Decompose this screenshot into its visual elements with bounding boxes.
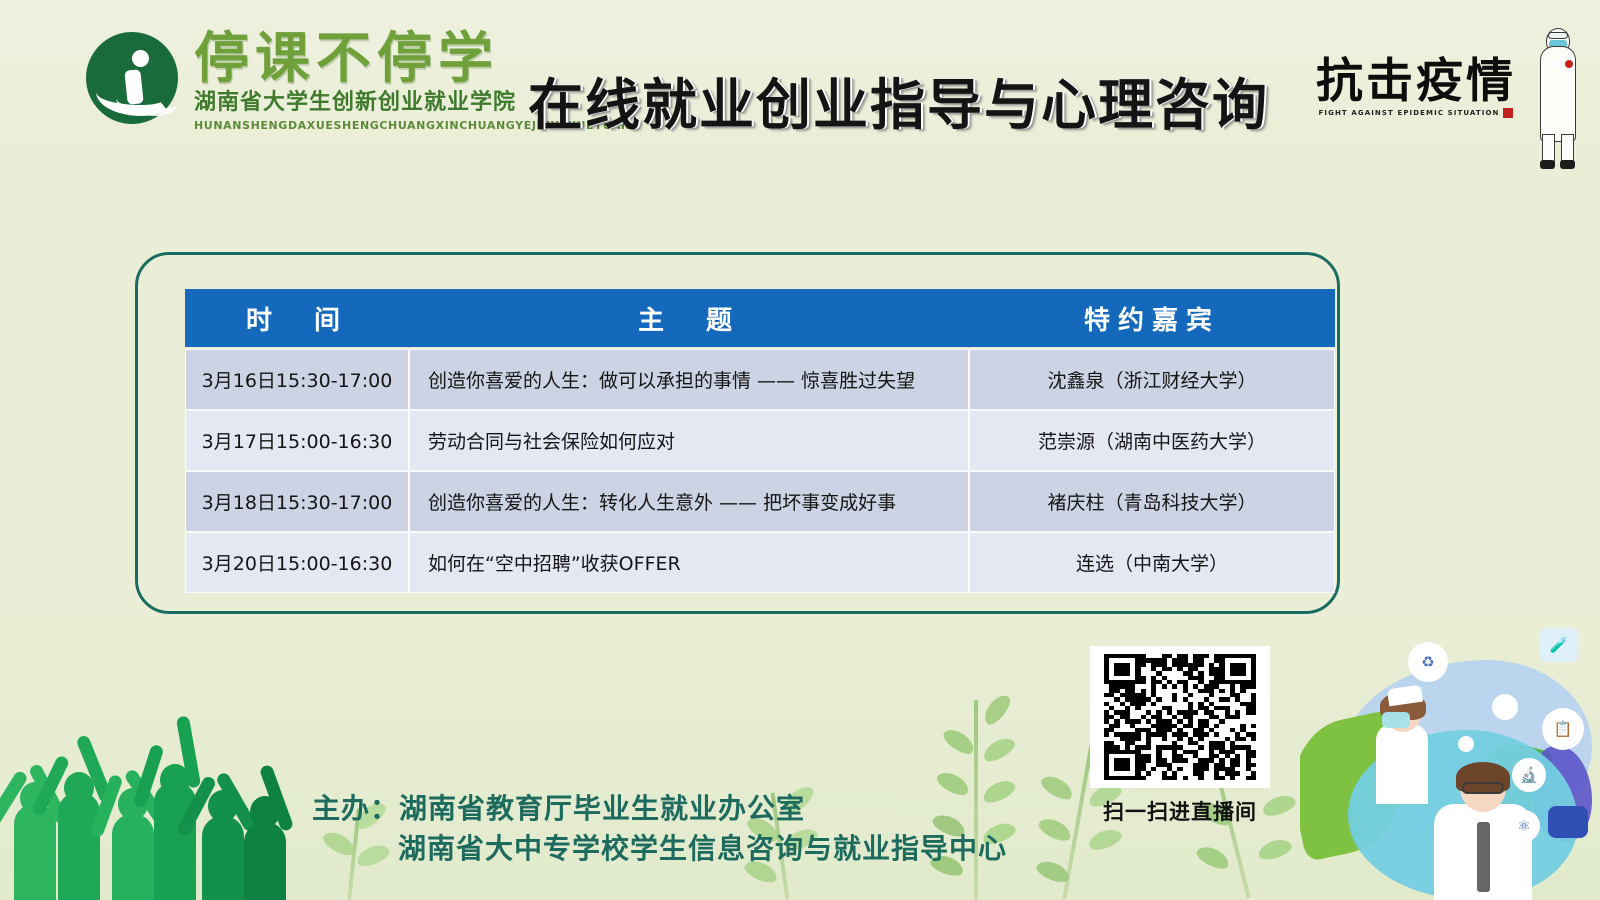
test-tubes-icon: 🧪: [1540, 628, 1578, 662]
cell-topic: 创造你喜爱的人生：做可以承担的事情 —— 惊喜胜过失望: [409, 349, 969, 410]
epidemic-badge-cn: 抗击疫情: [1316, 58, 1516, 105]
microscope-icon: 🔬: [1512, 758, 1546, 792]
cell-time: 3月20日15:00-16:30: [185, 532, 409, 593]
column-header-guest: 特约嘉宾: [969, 289, 1335, 347]
organizer-prefix: 主办：: [312, 792, 399, 825]
bubble-dot: [1458, 736, 1474, 752]
epidemic-badge: 抗击疫情 FIGHT AGAINST EPIDEMIC SITUATION: [1316, 58, 1516, 118]
clipboard-icon: 📋: [1542, 708, 1584, 750]
atom-icon: ⚛: [1508, 810, 1540, 842]
organizer-footer: 主办：湖南省教育厅毕业生就业办公室 湖南省大中专学校学生信息咨询与就业指导中心: [312, 789, 1007, 870]
organizer-line-2: 湖南省大中专学校学生信息咨询与就业指导中心: [398, 829, 1007, 870]
monitor-icon: [1548, 806, 1588, 838]
schedule-table: 时 间 主 题 特约嘉宾 3月16日15:30-17:00 创造你喜爱的人生：做…: [185, 289, 1335, 593]
table-row: 3月18日15:30-17:00 创造你喜爱的人生：转化人生意外 —— 把坏事变…: [185, 471, 1335, 532]
celebrating-people-silhouettes: [0, 685, 300, 900]
cell-time: 3月18日15:30-17:00: [185, 471, 409, 532]
column-header-time: 时 间: [185, 289, 409, 347]
organizer-office: 湖南省教育厅毕业生就业办公室: [399, 792, 805, 825]
table-row: 3月17日15:00-16:30 劳动合同与社会保险如何应对 范崇源（湖南中医药…: [185, 410, 1335, 471]
cell-guest: 沈鑫泉（浙江财经大学）: [969, 349, 1335, 410]
column-header-topic: 主 题: [409, 289, 969, 347]
cell-time: 3月16日15:30-17:00: [185, 349, 409, 410]
nurse-and-doctor-illustration: ♻ 📋 🔬 ⚛ 🧪: [1300, 600, 1600, 900]
livestream-qr-code-icon[interactable]: [1090, 646, 1270, 788]
epidemic-badge-en: FIGHT AGAINST EPIDEMIC SITUATION: [1316, 108, 1516, 118]
cell-topic: 创造你喜爱的人生：转化人生意外 —— 把坏事变成好事: [409, 471, 969, 532]
qr-caption: 扫一扫进直播间: [1090, 796, 1270, 826]
livestream-qr-block[interactable]: 扫一扫进直播间: [1090, 646, 1270, 826]
cell-guest: 褚庆柱（青岛科技大学）: [969, 471, 1335, 532]
table-row: 3月16日15:30-17:00 创造你喜爱的人生：做可以承担的事情 —— 惊喜…: [185, 349, 1335, 410]
table-header-row: 时 间 主 题 特约嘉宾: [185, 289, 1335, 347]
flask-icon: ♻: [1408, 642, 1448, 682]
bubble-dot: [1492, 694, 1518, 720]
red-seal-icon: [1503, 108, 1513, 118]
cell-guest: 范崇源（湖南中医药大学）: [969, 410, 1335, 471]
page-header: 停课不停学 湖南省大学生创新创业就业学院 HUNANSHENGDAXUESHEN…: [0, 0, 1600, 185]
medical-worker-ppe-icon: [1532, 22, 1584, 170]
table-row: 3月20日15:00-16:30 如何在“空中招聘”收获OFFER 连选（中南大…: [185, 532, 1335, 593]
organizer-line-1: 主办：湖南省教育厅毕业生就业办公室: [312, 789, 1007, 830]
page-title: 在线就业创业指导与心理咨询: [528, 60, 1269, 140]
cell-topic: 如何在“空中招聘”收获OFFER: [409, 532, 969, 593]
cell-topic: 劳动合同与社会保险如何应对: [409, 410, 969, 471]
cell-guest: 连选（中南大学）: [969, 532, 1335, 593]
cell-time: 3月17日15:00-16:30: [185, 410, 409, 471]
institute-logo-mark-icon: [86, 32, 178, 124]
